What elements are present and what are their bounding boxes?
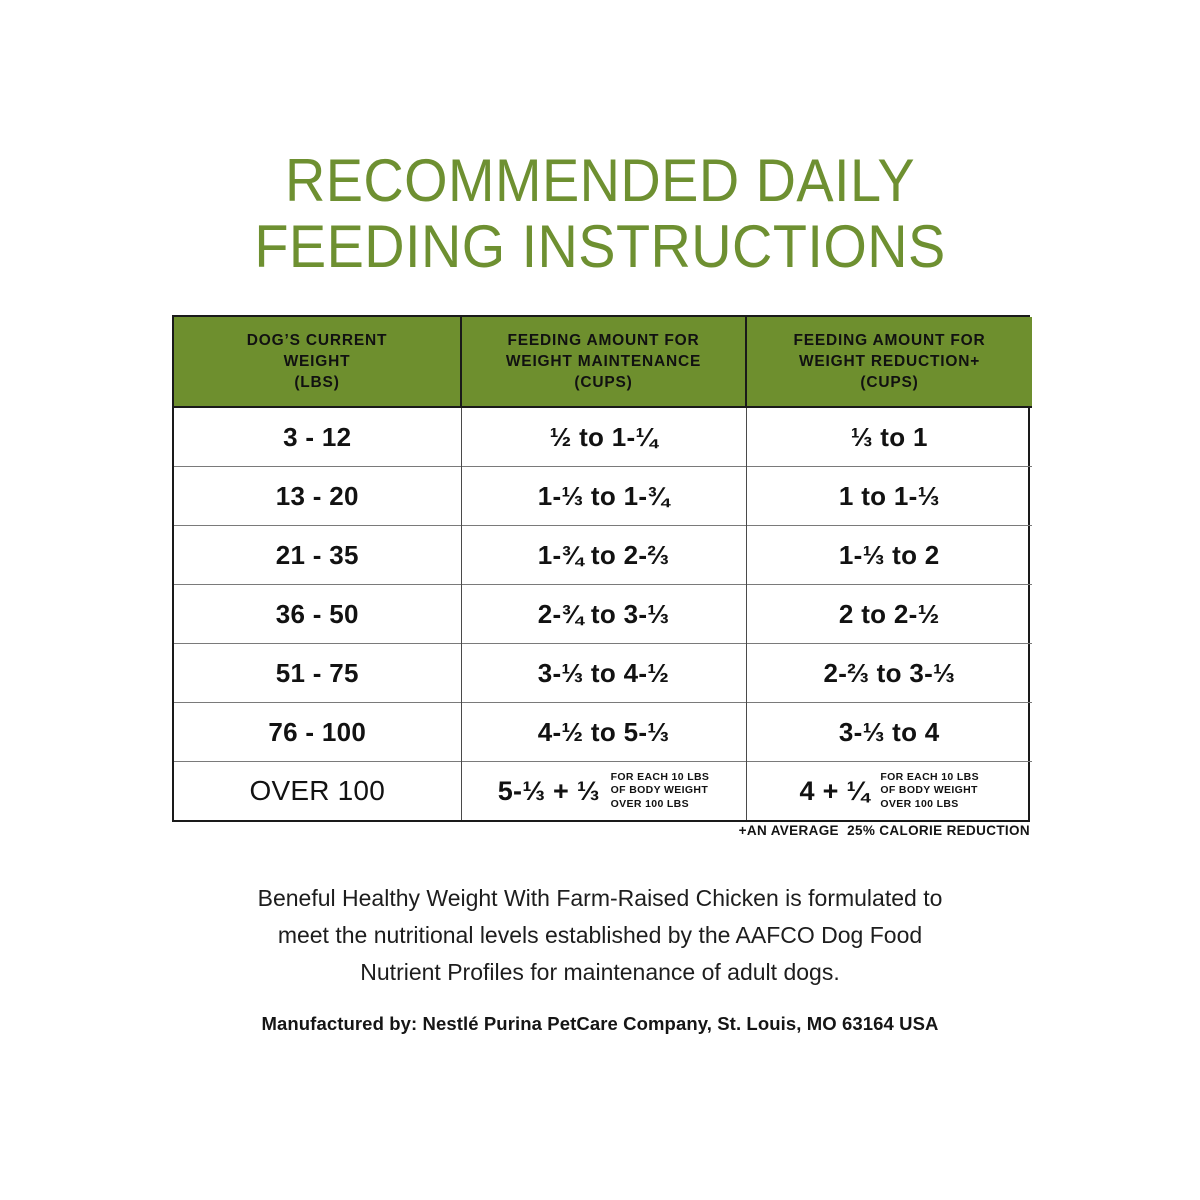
cell-reduction: 1-⅓ to 2	[746, 526, 1032, 585]
maintenance-note-line-2: OF BODY WEIGHT	[611, 784, 710, 798]
reduction-combo: 4 + ¼ FOR EACH 10 LBS OF BODY WEIGHT OVE…	[751, 771, 1029, 812]
table-row: 36 - 50 2-¾ to 3-⅓ 2 to 2-½	[174, 585, 1032, 644]
cell-reduction: 2 to 2-½	[746, 585, 1032, 644]
maintenance-note-line-3: OVER 100 LBS	[611, 798, 710, 812]
manufacturer-line: Manufactured by: Nestlé Purina PetCare C…	[0, 1013, 1200, 1035]
column-header-reduction-line-2: WEIGHT REDUCTION+	[753, 351, 1026, 372]
maintenance-value: 5-⅓ + ⅓	[498, 776, 600, 807]
table-row: 51 - 75 3-⅓ to 4-½ 2-⅔ to 3-⅓	[174, 644, 1032, 703]
cell-maintenance: ½ to 1-¼	[461, 407, 746, 467]
cell-reduction-over-100: 4 + ¼ FOR EACH 10 LBS OF BODY WEIGHT OVE…	[746, 762, 1032, 821]
table-header-row: DOG’S CURRENT WEIGHT (LBS) FEEDING AMOUN…	[174, 317, 1032, 407]
column-header-maintenance-line-2: WEIGHT MAINTENANCE	[468, 351, 739, 372]
cell-weight: 21 - 35	[174, 526, 461, 585]
cell-reduction: ⅓ to 1	[746, 407, 1032, 467]
page-title-line-2: FEEDING INSTRUCTIONS	[42, 214, 1158, 280]
cell-maintenance: 3-⅓ to 4-½	[461, 644, 746, 703]
cell-maintenance-over-100: 5-⅓ + ⅓ FOR EACH 10 LBS OF BODY WEIGHT O…	[461, 762, 746, 821]
page-title-line-1: RECOMMENDED DAILY	[42, 148, 1158, 214]
cell-weight: 76 - 100	[174, 703, 461, 762]
column-header-maintenance-line-1: FEEDING AMOUNT FOR	[468, 330, 739, 351]
column-header-maintenance-line-3: (CUPS)	[468, 372, 739, 393]
aafco-statement-line-2: meet the nutritional levels established …	[180, 917, 1020, 954]
maintenance-note-line-1: FOR EACH 10 LBS	[611, 771, 710, 785]
aafco-statement: Beneful Healthy Weight With Farm-Raised …	[180, 880, 1020, 991]
cell-weight-over-100: OVER 100	[174, 762, 461, 821]
column-header-maintenance: FEEDING AMOUNT FOR WEIGHT MAINTENANCE (C…	[461, 317, 746, 407]
column-header-reduction-line-3: (CUPS)	[753, 372, 1026, 393]
aafco-statement-line-1: Beneful Healthy Weight With Farm-Raised …	[180, 880, 1020, 917]
maintenance-note: FOR EACH 10 LBS OF BODY WEIGHT OVER 100 …	[611, 771, 710, 812]
column-header-weight: DOG’S CURRENT WEIGHT (LBS)	[174, 317, 461, 407]
cell-reduction: 3-⅓ to 4	[746, 703, 1032, 762]
reduction-note: FOR EACH 10 LBS OF BODY WEIGHT OVER 100 …	[880, 771, 979, 812]
table-row: 13 - 20 1-⅓ to 1-¾ 1 to 1-⅓	[174, 467, 1032, 526]
reduction-note-line-2: OF BODY WEIGHT	[880, 784, 979, 798]
table-row: 76 - 100 4-½ to 5-⅓ 3-⅓ to 4	[174, 703, 1032, 762]
feeding-instructions-panel: RECOMMENDED DAILY FEEDING INSTRUCTIONS D…	[0, 0, 1200, 1200]
maintenance-combo: 5-⅓ + ⅓ FOR EACH 10 LBS OF BODY WEIGHT O…	[466, 771, 742, 812]
cell-reduction: 2-⅔ to 3-⅓	[746, 644, 1032, 703]
cell-maintenance: 4-½ to 5-⅓	[461, 703, 746, 762]
cell-weight: 13 - 20	[174, 467, 461, 526]
column-header-reduction-line-1: FEEDING AMOUNT FOR	[753, 330, 1026, 351]
cell-reduction: 1 to 1-⅓	[746, 467, 1032, 526]
feeding-table-container: DOG’S CURRENT WEIGHT (LBS) FEEDING AMOUN…	[172, 315, 1030, 822]
feeding-table-head: DOG’S CURRENT WEIGHT (LBS) FEEDING AMOUN…	[174, 317, 1032, 407]
cell-weight: 3 - 12	[174, 407, 461, 467]
cell-maintenance: 1-⅓ to 1-¾	[461, 467, 746, 526]
column-header-weight-line-1: DOG’S CURRENT	[180, 330, 454, 351]
cell-weight: 36 - 50	[174, 585, 461, 644]
column-header-reduction: FEEDING AMOUNT FOR WEIGHT REDUCTION+ (CU…	[746, 317, 1032, 407]
table-row: 21 - 35 1-¾ to 2-⅔ 1-⅓ to 2	[174, 526, 1032, 585]
feeding-table: DOG’S CURRENT WEIGHT (LBS) FEEDING AMOUN…	[174, 317, 1032, 820]
table-row-over-100: OVER 100 5-⅓ + ⅓ FOR EACH 10 LBS OF BODY…	[174, 762, 1032, 821]
aafco-statement-line-3: Nutrient Profiles for maintenance of adu…	[180, 954, 1020, 991]
reduction-note-line-1: FOR EACH 10 LBS	[880, 771, 979, 785]
table-row: 3 - 12 ½ to 1-¼ ⅓ to 1	[174, 407, 1032, 467]
cell-maintenance: 2-¾ to 3-⅓	[461, 585, 746, 644]
feeding-table-body: 3 - 12 ½ to 1-¼ ⅓ to 1 13 - 20 1-⅓ to 1-…	[174, 407, 1032, 820]
reduction-note-line-3: OVER 100 LBS	[880, 798, 979, 812]
page-title: RECOMMENDED DAILY FEEDING INSTRUCTIONS	[0, 148, 1200, 280]
cell-maintenance: 1-¾ to 2-⅔	[461, 526, 746, 585]
cell-weight: 51 - 75	[174, 644, 461, 703]
reduction-value: 4 + ¼	[800, 776, 870, 807]
column-header-weight-line-2: WEIGHT	[180, 351, 454, 372]
column-header-weight-line-3: (LBS)	[180, 372, 454, 393]
calorie-reduction-footnote: +AN AVERAGE 25% CALORIE REDUCTION	[0, 823, 1030, 838]
